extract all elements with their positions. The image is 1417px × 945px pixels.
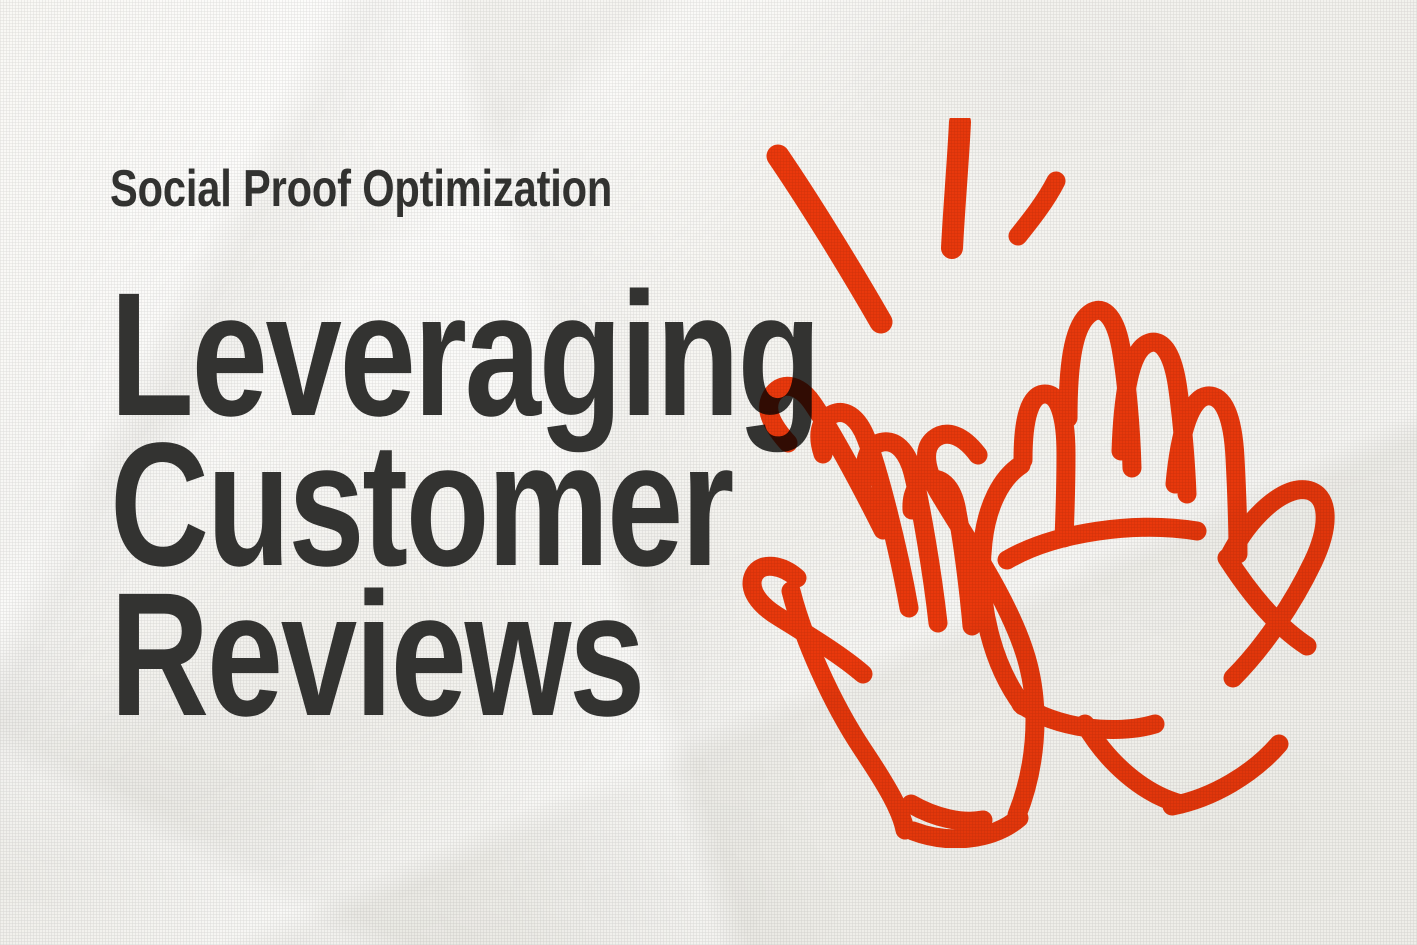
motion-line-short-diagonal-icon <box>1018 181 1056 236</box>
right-hand-cuff <box>1172 744 1279 806</box>
left-hand-wrist <box>791 591 905 830</box>
motion-line-long-diagonal-icon <box>778 156 881 322</box>
motion-lines-group <box>778 122 1056 322</box>
eyebrow-kicker: Social Proof Optimization <box>110 160 837 218</box>
clapping-hands-illustration <box>735 118 1335 848</box>
headline-line-3: Reviews <box>110 580 819 730</box>
poster-canvas: Social Proof Optimization Leveraging Cus… <box>0 0 1417 945</box>
right-hand-knuckle-line <box>1007 527 1197 560</box>
motion-line-vertical-icon <box>952 122 960 248</box>
left-hand-cuff <box>911 804 983 821</box>
clapping-hands-svg <box>735 118 1335 848</box>
